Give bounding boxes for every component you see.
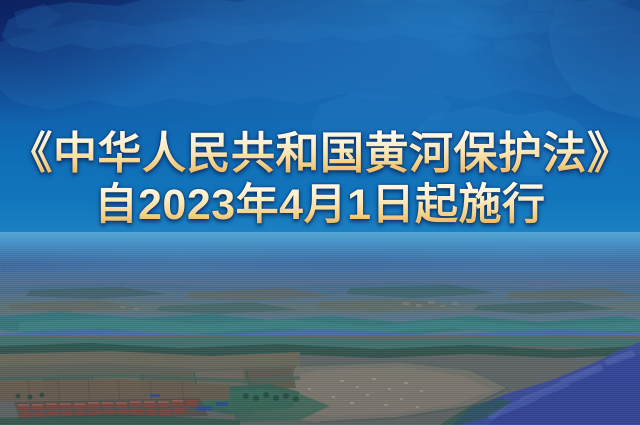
title-line-law-name: 《中华人民共和国黄河保护法》: [0, 128, 640, 180]
foreground-fields-and-river: [0, 336, 640, 425]
poster-title-block: 《中华人民共和国黄河保护法》 自2023年4月1日起施行: [0, 128, 640, 230]
title-line-effective-date: 自2023年4月1日起施行: [0, 180, 640, 230]
mid-distance-fields: [0, 272, 640, 346]
aerial-landscape-photo: [0, 232, 640, 425]
poster-banner: 《中华人民共和国黄河保护法》 自2023年4月1日起施行: [0, 0, 640, 425]
